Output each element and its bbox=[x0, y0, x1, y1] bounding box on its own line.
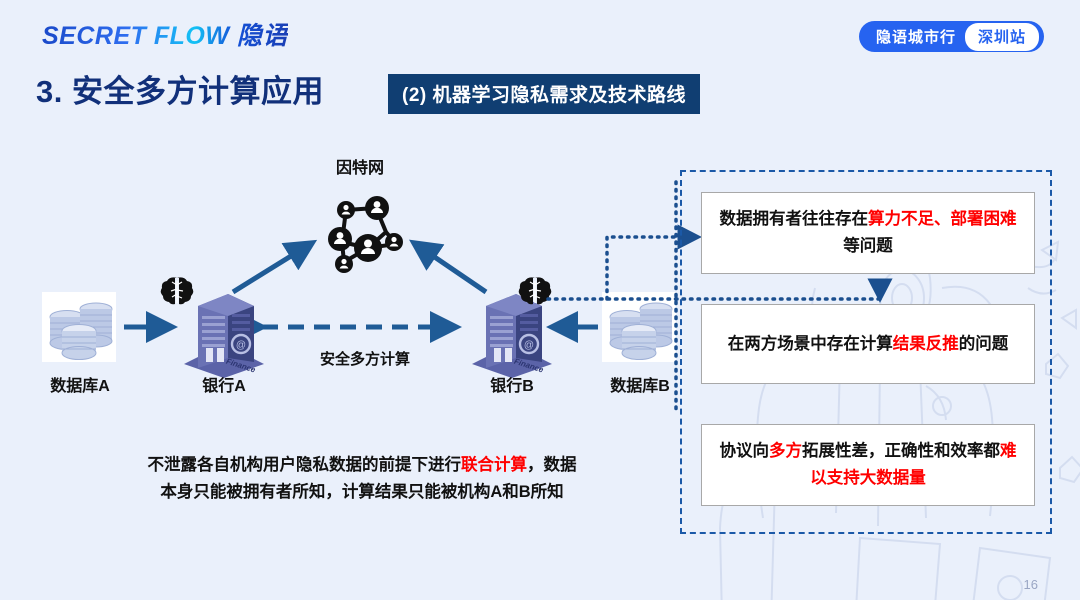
summary-line2: 本身只能被拥有者所知，计算结果只能被机构A和B所知 bbox=[160, 483, 563, 501]
summary-line1-pre: 不泄露各自机构用户隐私数据的前提下进行 bbox=[148, 456, 462, 474]
database-a-icon bbox=[42, 292, 116, 362]
bank-b-label: 银行B bbox=[456, 372, 568, 396]
summary-line1-post: ，数据 bbox=[527, 456, 577, 474]
svg-text:@: @ bbox=[524, 340, 534, 351]
issue-box-3: 协议向多方拓展性差，正确性和效率都难以支持大数据量 bbox=[701, 424, 1035, 506]
issue-box-2: 在两方场景中存在计算结果反推的问题 bbox=[701, 304, 1035, 384]
bank-a-label: 银行A bbox=[168, 372, 280, 396]
summary-paragraph: 不泄露各自机构用户隐私数据的前提下进行联合计算，数据 本身只能被拥有者所知，计算… bbox=[82, 452, 642, 506]
brain-icon bbox=[160, 276, 194, 306]
issue-3-post: 拓展性差，正确性和效率都 bbox=[802, 442, 1000, 460]
mpc-link-label: 安全多方计算 bbox=[300, 348, 430, 369]
svg-text:@: @ bbox=[236, 340, 246, 351]
issue-1-highlight: 算力不足、部署困难 bbox=[868, 210, 1017, 228]
issue-3-highlight: 多方 bbox=[769, 442, 802, 460]
page-number: 16 bbox=[1024, 577, 1038, 592]
brain-icon bbox=[518, 276, 552, 306]
network-nodes-icon bbox=[320, 192, 406, 276]
tour-badge-city: 深圳站 bbox=[965, 23, 1039, 51]
issue-2-pre: 在两方场景中存在计算 bbox=[728, 335, 893, 353]
issue-3-pre: 协议向 bbox=[720, 442, 770, 460]
issue-2-post: 的问题 bbox=[959, 335, 1009, 353]
summary-line1-highlight: 联合计算 bbox=[461, 456, 527, 474]
bottom-strip bbox=[0, 600, 1080, 608]
tour-badge: 隐语城市行 深圳站 bbox=[859, 21, 1044, 52]
brand-logo: SECRET FLOW 隐语 bbox=[42, 16, 288, 52]
slide-canvas: SECRET FLOW 隐语 3. 安全多方计算应用 (2) 机器学习隐私需求及… bbox=[0, 0, 1080, 608]
issue-1-pre: 数据拥有者往往存在 bbox=[720, 210, 869, 228]
internet-label: 因特网 bbox=[305, 154, 415, 178]
page-title: 3. 安全多方计算应用 bbox=[36, 66, 324, 111]
database-b-icon bbox=[602, 292, 676, 362]
tour-badge-label: 隐语城市行 bbox=[876, 26, 956, 47]
database-a-label: 数据库A bbox=[22, 372, 138, 396]
issue-1-post: 等问题 bbox=[843, 237, 893, 255]
mpc-architecture-diagram: @ Finance bbox=[0, 140, 690, 420]
issue-box-1: 数据拥有者往往存在算力不足、部署困难等问题 bbox=[701, 192, 1035, 274]
issue-2-highlight: 结果反推 bbox=[893, 335, 959, 353]
subtitle-chip: (2) 机器学习隐私需求及技术路线 bbox=[388, 74, 700, 114]
